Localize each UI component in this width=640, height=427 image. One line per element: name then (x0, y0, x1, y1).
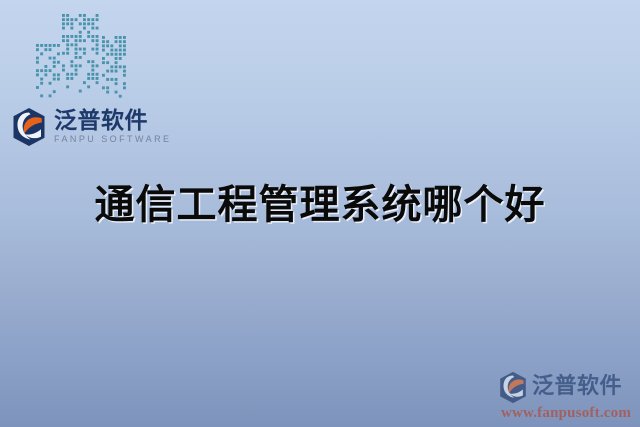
fanpu-hexagon-logo-icon (11, 107, 47, 147)
page-title: 通信工程管理系统哪个好 (0, 180, 640, 230)
watermark-brand-row: 泛普软件 (498, 371, 634, 404)
brand-name-en: FANPU SOFTWARE (54, 135, 171, 144)
watermark: 泛普软件 www.fanpusoft.com (498, 371, 634, 422)
watermark-brand-name: 泛普软件 (532, 376, 622, 398)
brand-text: 泛普软件 FANPU SOFTWARE (54, 110, 171, 144)
fanpu-hexagon-logo-icon (498, 371, 528, 404)
brand-name-cn: 泛普软件 (54, 110, 171, 133)
watermark-url: www.fanpusoft.com (498, 405, 634, 422)
brand-logo: 泛普软件 FANPU SOFTWARE (11, 107, 171, 147)
promo-banner: 泛普软件 FANPU SOFTWARE 通信工程管理系统哪个好 泛普软件 www… (0, 0, 640, 427)
pixel-building-skyline-icon (36, 14, 128, 106)
